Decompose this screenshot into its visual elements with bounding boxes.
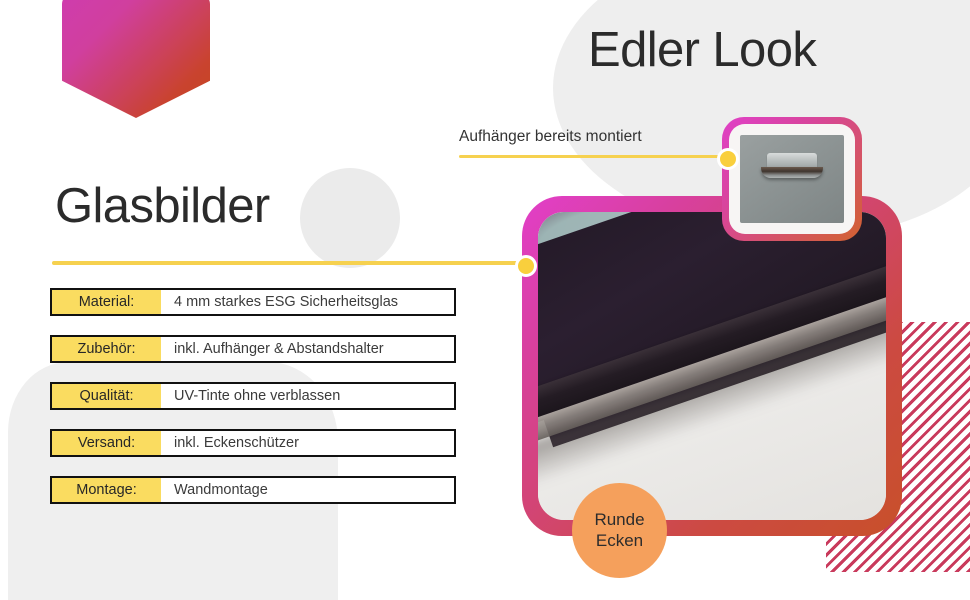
spec-key-montage: Montage: <box>52 478 161 502</box>
spec-key-versand: Versand: <box>52 431 161 455</box>
table-row: Zubehör: inkl. Aufhänger & Abstandshalte… <box>50 335 456 363</box>
product-photo <box>538 212 886 520</box>
badge-line-2: Ecken <box>596 531 643 552</box>
badge-line-1: Runde <box>594 510 644 531</box>
connector-dot-icon-hanger <box>717 148 739 170</box>
hanger-inset-matte <box>729 124 855 234</box>
connector-line-main <box>52 261 528 265</box>
spec-value-qualitaet: UV-Tinte ohne verblassen <box>161 384 454 408</box>
hanger-callout-label: Aufhänger bereits montiert <box>459 128 642 146</box>
hanger-inset-frame <box>722 117 862 241</box>
spec-value-versand: inkl. Eckenschützer <box>161 431 454 455</box>
spec-key-material: Material: <box>52 290 161 314</box>
spec-key-zubehoer: Zubehör: <box>52 337 161 361</box>
pennant-ribbon-icon <box>62 0 210 118</box>
specification-table: Material: 4 mm starkes ESG Sicherheitsgl… <box>50 288 456 523</box>
table-row: Versand: inkl. Eckenschützer <box>50 429 456 457</box>
table-row: Material: 4 mm starkes ESG Sicherheitsgl… <box>50 288 456 316</box>
connector-dot-icon-main <box>515 255 537 277</box>
spec-value-material: 4 mm starkes ESG Sicherheitsglas <box>161 290 454 314</box>
page-title-left: Glasbilder <box>55 178 270 234</box>
infographic-canvas: Edler Look Glasbilder Aufhänger bereits … <box>0 0 970 600</box>
connector-line-hanger <box>459 155 731 158</box>
table-row: Montage: Wandmontage <box>50 476 456 504</box>
spec-key-qualitaet: Qualität: <box>52 384 161 408</box>
hanger-lip <box>761 167 823 178</box>
page-title-right: Edler Look <box>588 22 816 78</box>
product-photo-frame <box>522 196 902 536</box>
table-row: Qualität: UV-Tinte ohne verblassen <box>50 382 456 410</box>
wall-hanger-icon <box>740 135 844 223</box>
rounded-corners-badge: Runde Ecken <box>572 483 667 578</box>
spec-value-zubehoer: inkl. Aufhänger & Abstandshalter <box>161 337 454 361</box>
spec-value-montage: Wandmontage <box>161 478 454 502</box>
background-circle-behind-title <box>300 168 400 268</box>
